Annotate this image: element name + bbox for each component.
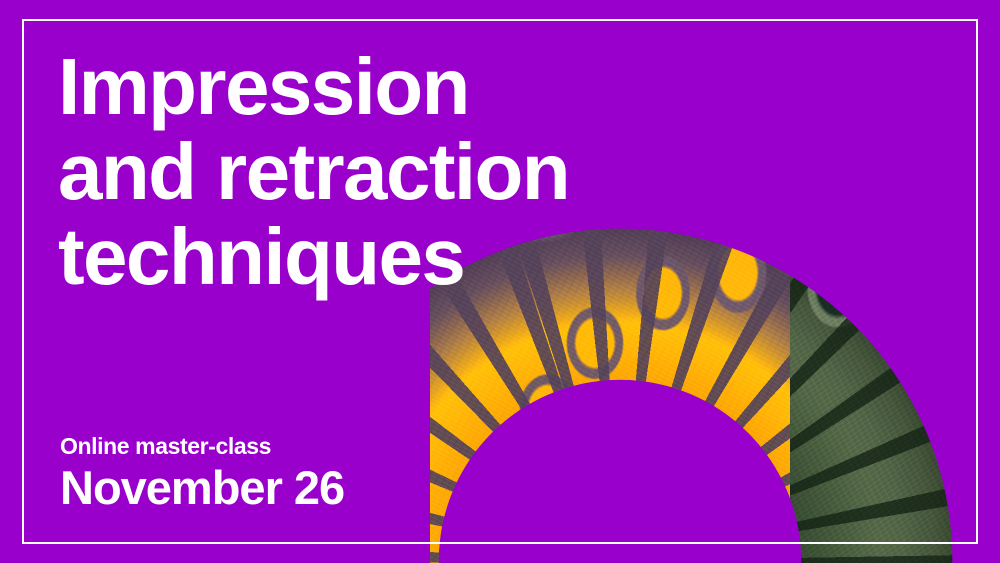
event-date: November 26 — [60, 460, 344, 516]
impression-right-texture — [790, 205, 1000, 563]
impression-right-half-green — [790, 205, 1000, 563]
poster-canvas: Impression and retraction techniques Onl… — [0, 0, 1000, 563]
page-title: Impression and retraction techniques — [58, 44, 758, 299]
event-format-label: Online master-class — [60, 432, 344, 460]
event-details: Online master-class November 26 — [60, 432, 344, 516]
